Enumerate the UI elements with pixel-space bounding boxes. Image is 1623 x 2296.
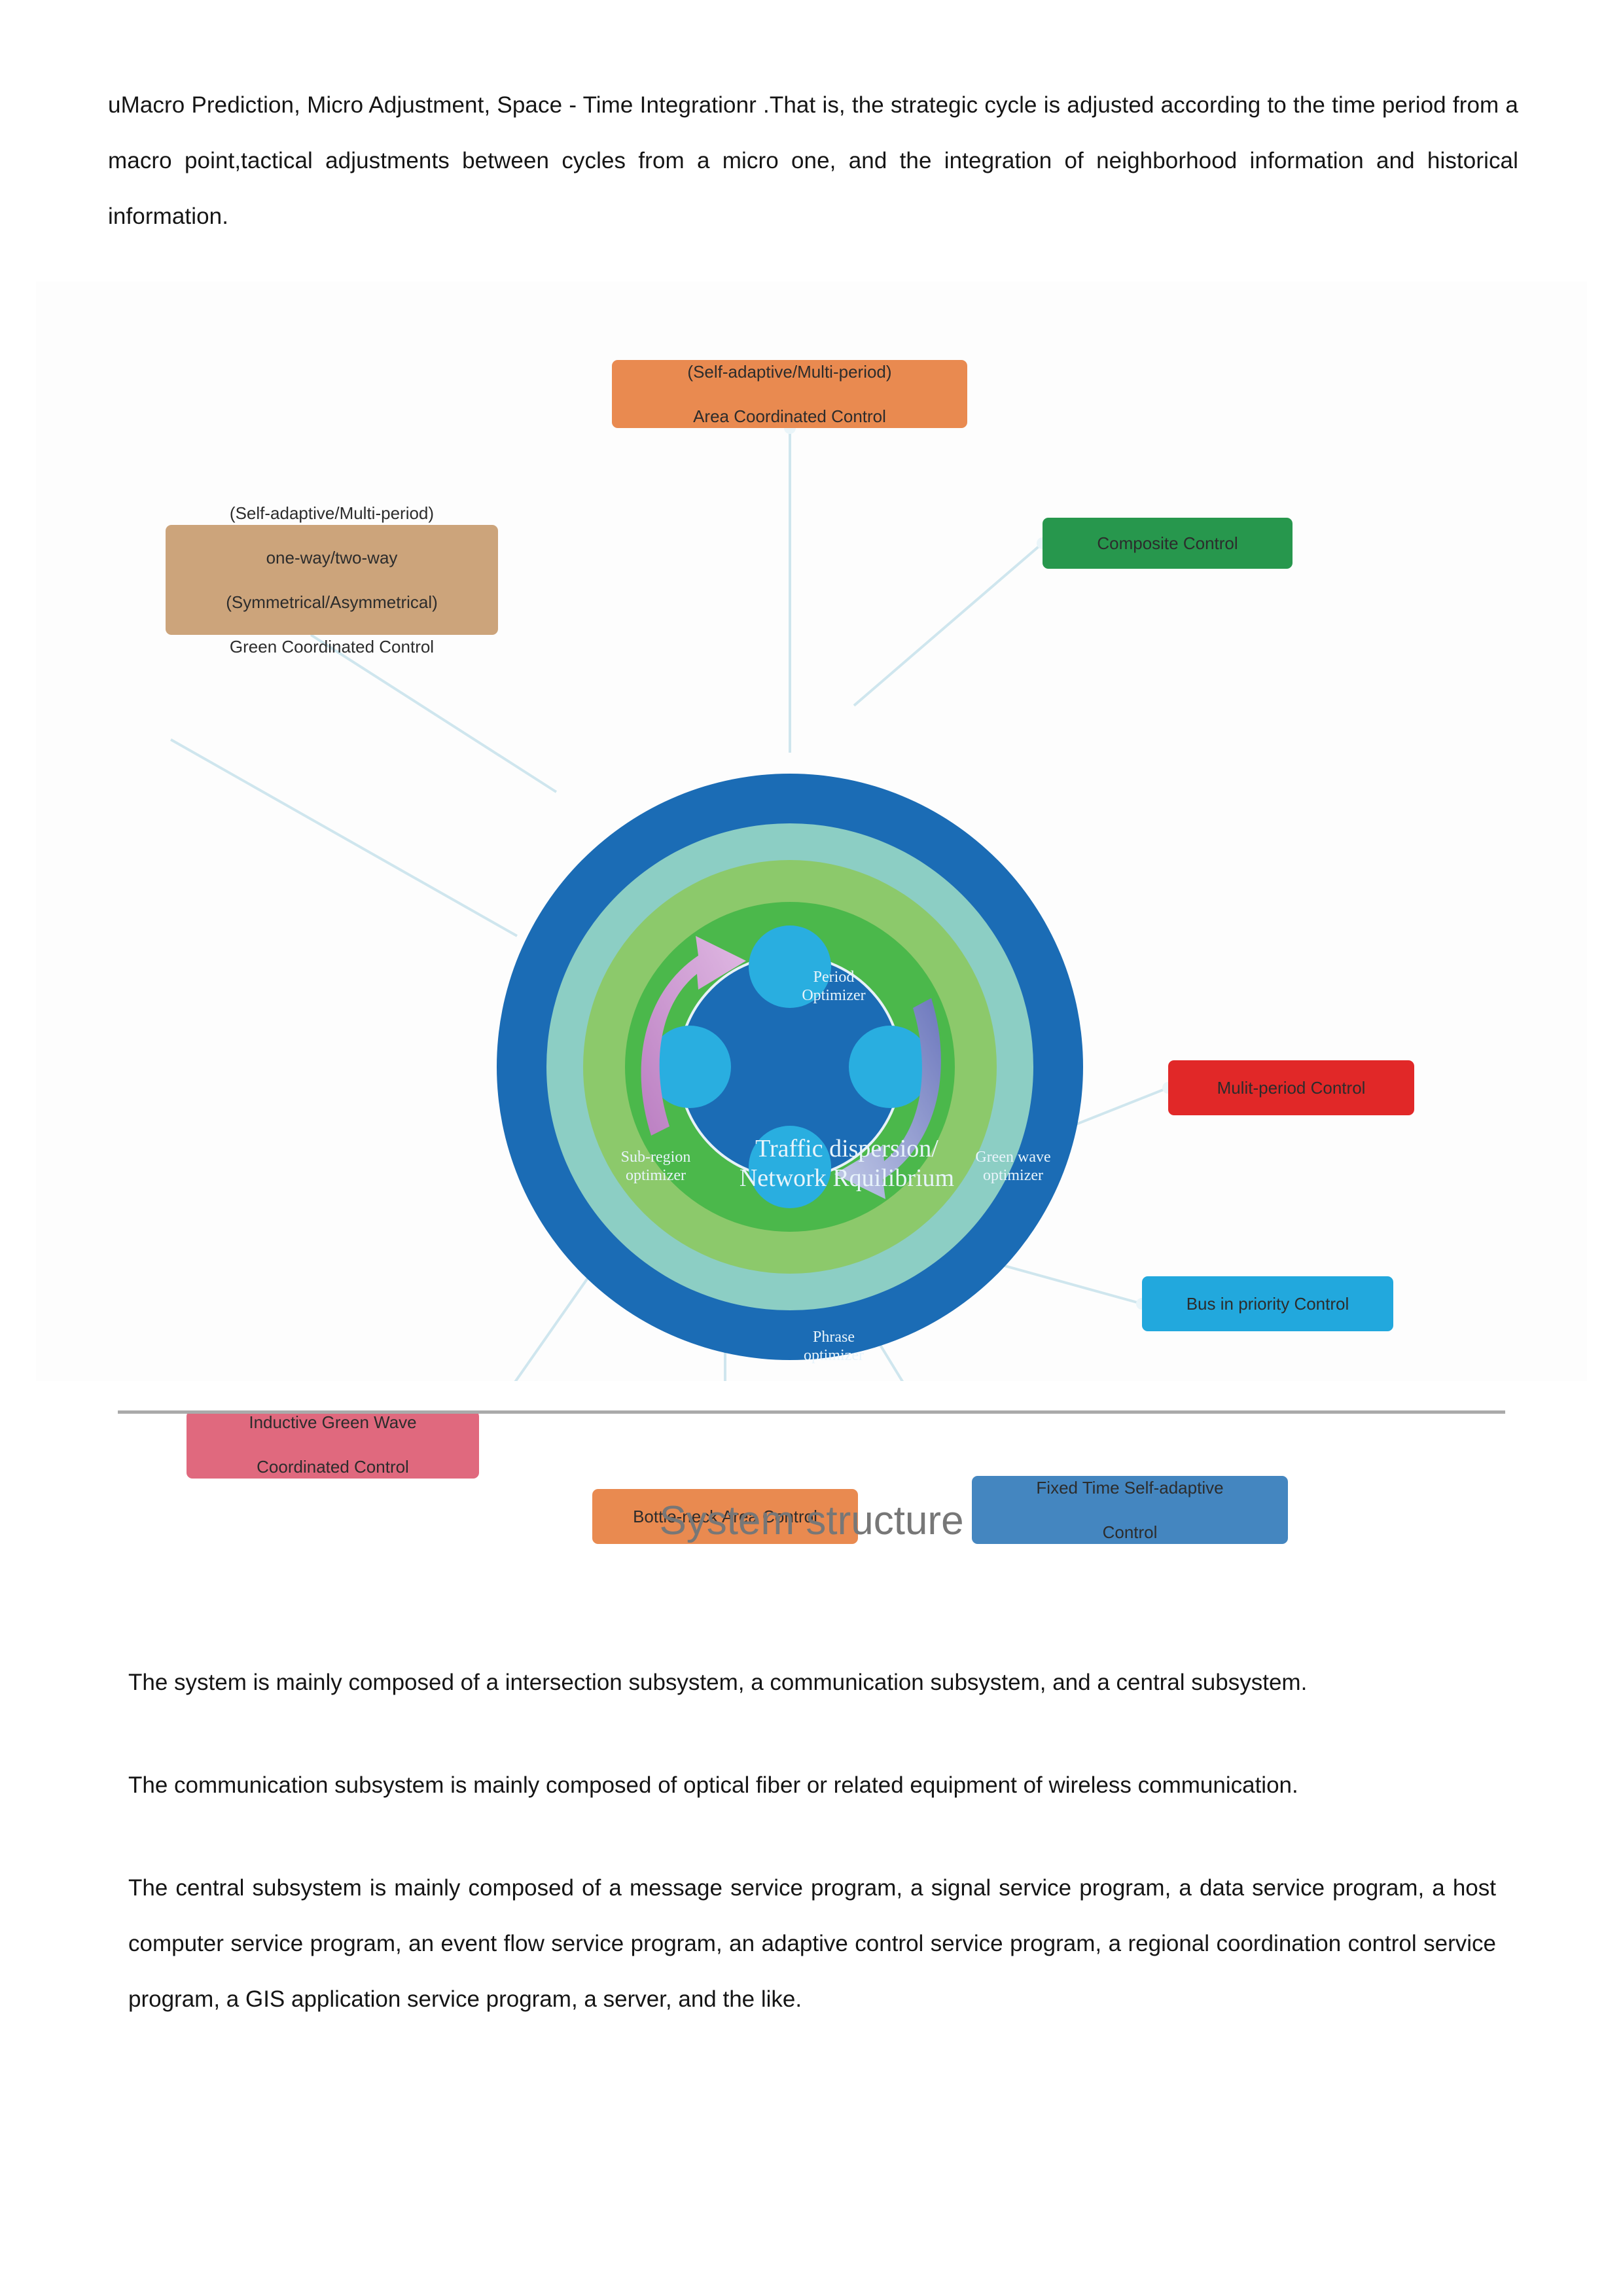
concentric-control-diagram: (Self-adaptive/Multi-period) Area Coordi…	[36, 281, 1587, 1381]
callout-area-coordinated-control[interactable]: (Self-adaptive/Multi-period) Area Coordi…	[612, 360, 967, 428]
body-paragraph-3: The central subsystem is mainly composed…	[128, 1860, 1496, 2027]
node-green-wave-optimizer	[849, 1026, 931, 1108]
callout-line: Coordinated Control	[194, 1456, 471, 1478]
callout-line: (Self-adaptive/Multi-period)	[173, 502, 490, 524]
callout-line: Fixed Time Self-adaptive	[980, 1477, 1280, 1499]
section-heading: System structure	[0, 1498, 1623, 1544]
section-body: The system is mainly composed of a inter…	[128, 1655, 1496, 2027]
callout-line: (Self-adaptive/Multi-period)	[620, 361, 959, 383]
callout-line: Area Coordinated Control	[620, 405, 959, 427]
section-divider	[118, 1410, 1505, 1414]
callout-bus-priority-control[interactable]: Bus in priority Control	[1142, 1276, 1393, 1331]
diagram-svg	[36, 281, 1587, 1381]
callout-composite-control[interactable]: Composite Control	[1043, 518, 1293, 569]
callout-line: Inductive Green Wave	[194, 1411, 471, 1433]
node-period-optimizer	[749, 925, 831, 1008]
callout-green-coordinated-control[interactable]: (Self-adaptive/Multi-period) one-way/two…	[166, 525, 498, 635]
callout-line: one-way/two-way	[173, 547, 490, 569]
node-phrase-optimizer	[749, 1126, 831, 1208]
callout-line: Mulit-period Control	[1176, 1077, 1406, 1099]
callout-line: Bus in priority Control	[1150, 1293, 1385, 1315]
callout-multi-period-control[interactable]: Mulit-period Control	[1168, 1060, 1414, 1115]
callout-line: (Symmetrical/Asymmetrical)	[173, 591, 490, 613]
callout-line: Green Coordinated Control	[173, 636, 490, 658]
intro-paragraph: uMacro Prediction, Micro Adjustment, Spa…	[108, 77, 1518, 244]
body-paragraph-1: The system is mainly composed of a inter…	[128, 1655, 1496, 1710]
body-paragraph-2: The communication subsystem is mainly co…	[128, 1757, 1496, 1813]
callout-inductive-green-wave-control[interactable]: Inductive Green Wave Coordinated Control	[187, 1410, 479, 1479]
callout-line: Composite Control	[1050, 532, 1285, 554]
